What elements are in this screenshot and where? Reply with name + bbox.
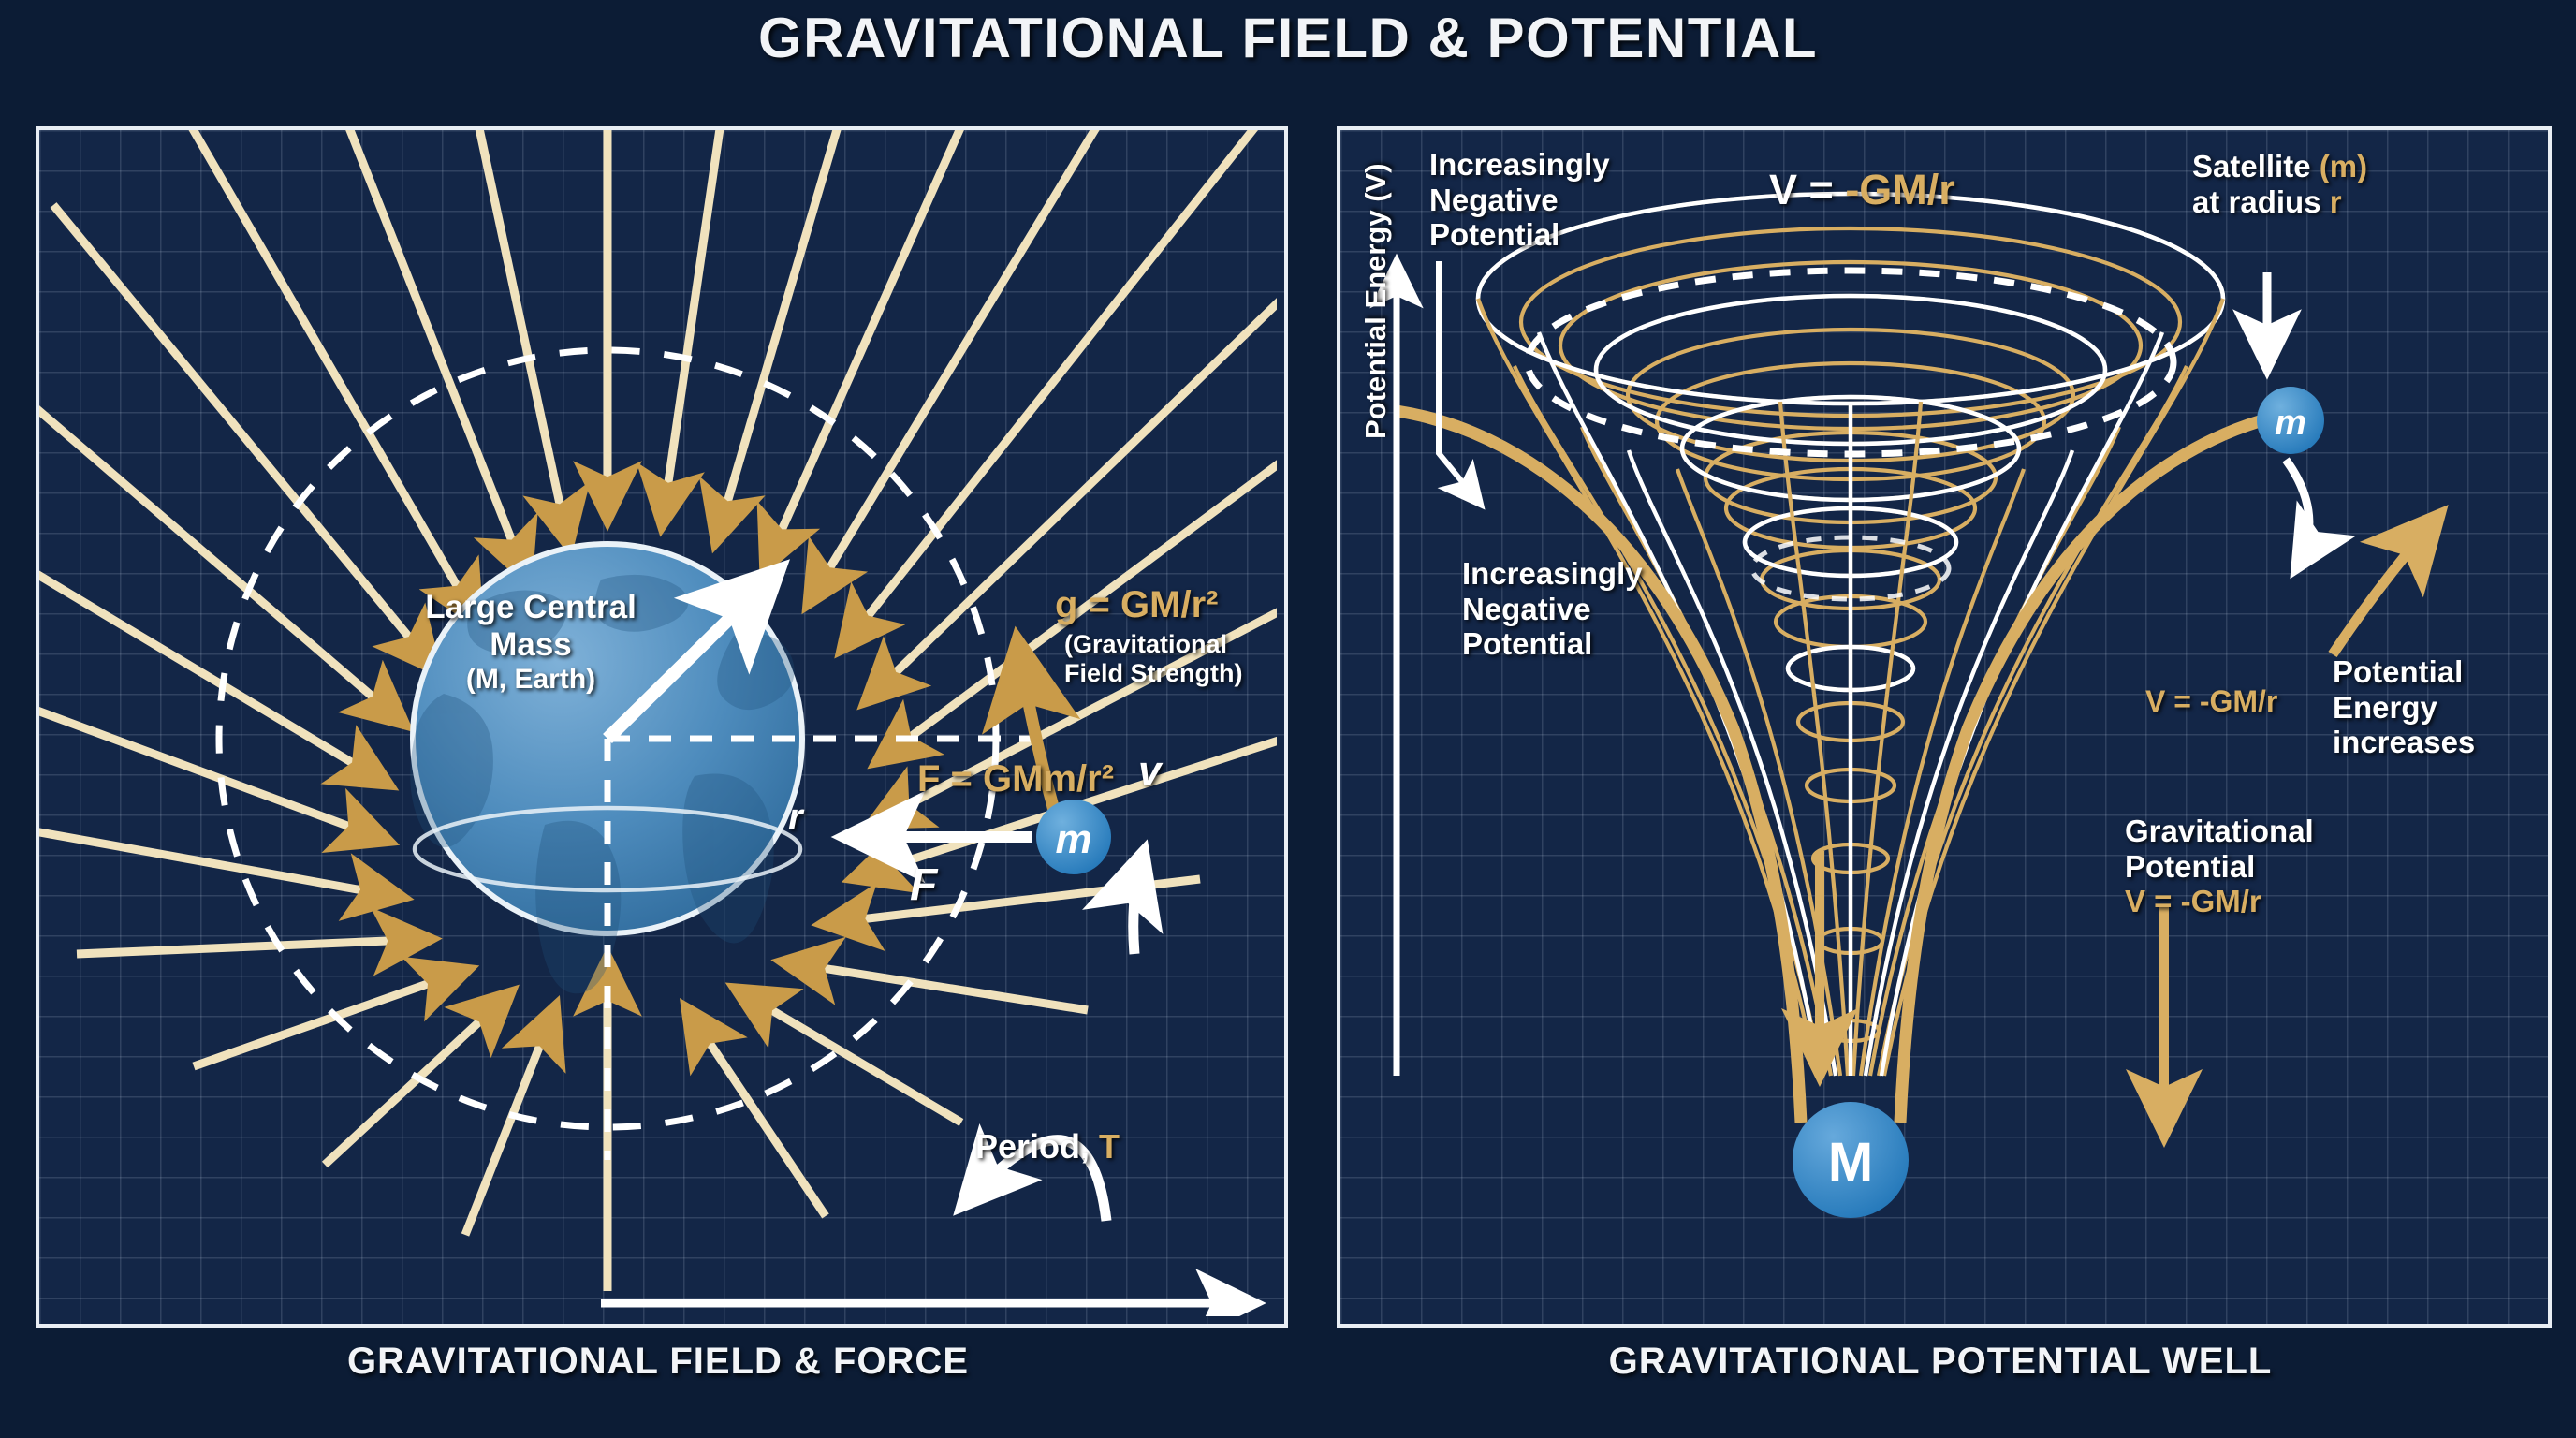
satellite-label-well: m: [2275, 404, 2306, 443]
diagram-canvas: GRAVITATIONAL FIELD & POTENTIAL: [0, 0, 2576, 1438]
well-accent-meridian-group: [1539, 332, 2162, 1076]
y-axis-label: Potential Energy (V): [1359, 400, 1392, 439]
well-profile-left: [1397, 411, 1801, 1123]
gravitational-potential-label: Gravitational Potential V = -GM/r: [2125, 814, 2314, 919]
panel-gravitational-field: m Large Central Mass (M, Earth) r g = GM…: [36, 126, 1288, 1328]
neg-potential-top-label: Increasingly Negative Potential: [1429, 147, 1610, 253]
period-label: Period, T: [975, 1127, 1120, 1166]
curve-formula-label: V = -GM/r: [2145, 684, 2277, 718]
field-strength-formula: g = GM/r²: [1055, 584, 1218, 627]
neg-potential-leader-top: [1439, 261, 1481, 505]
page-title: GRAVITATIONAL FIELD & POTENTIAL: [0, 6, 2576, 70]
pe-increases-arrow: [2333, 514, 2440, 654]
central-mass-label-well: M: [1828, 1132, 1873, 1193]
central-mass-label: Large Central Mass (M, Earth): [409, 589, 652, 696]
satellite-annotation: Satellite (m) at radius r: [2192, 149, 2367, 219]
potential-formula-header: V = -GM/r: [1769, 166, 1955, 213]
force-formula: F = GMm/r²: [917, 758, 1114, 801]
caption-left: GRAVITATIONAL FIELD & FORCE: [36, 1341, 1281, 1383]
well-profile-right: [1900, 411, 2305, 1123]
panel-potential-well: m M Potential Energy (V) Increasingly Ne…: [1337, 126, 2552, 1328]
pe-increases-label: Potential Energy increases: [2333, 654, 2475, 760]
orbital-radius-label: Orbital Radius, r: [796, 1321, 1065, 1328]
radius-symbol-label: r: [788, 797, 803, 840]
satellite-label: m: [1055, 816, 1091, 862]
force-symbol-label: F: [910, 860, 937, 912]
velocity-symbol-label: v: [1138, 748, 1161, 795]
field-strength-note: (Gravitational Field Strength): [1064, 630, 1243, 688]
neg-potential-left-label: Increasingly Negative Potential: [1462, 556, 1643, 662]
caption-right: GRAVITATIONAL POTENTIAL WELL: [1337, 1341, 2544, 1383]
satellite-descend-arrow: [2286, 460, 2309, 570]
velocity-arrow: [1134, 851, 1144, 954]
